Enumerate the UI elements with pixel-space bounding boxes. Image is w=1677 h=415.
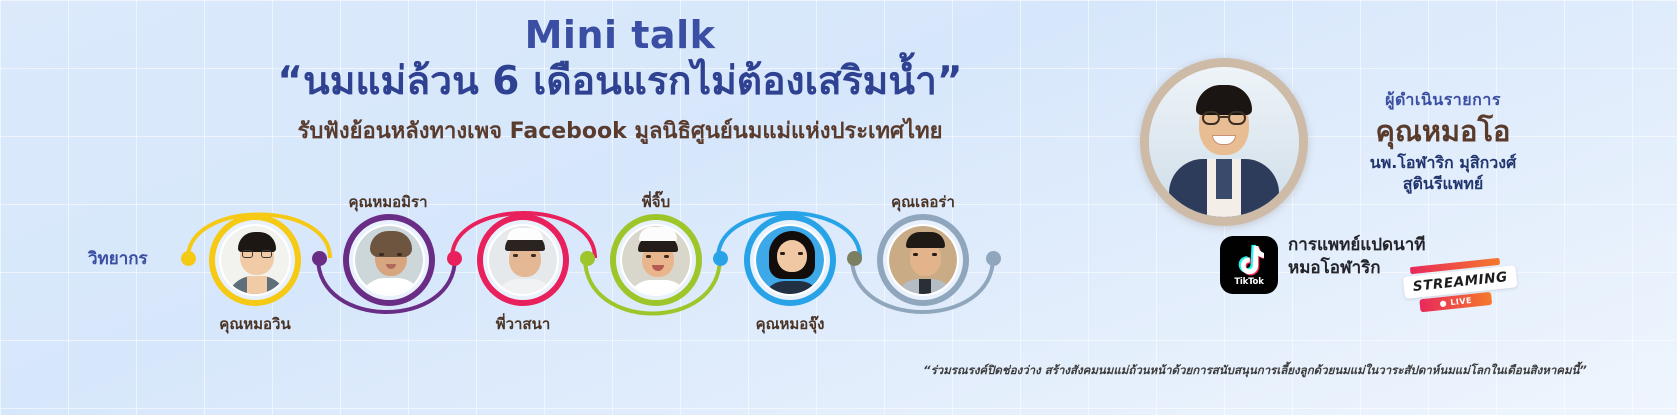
- footer-note: “ร่วมรณรงค์ปิดช่องว่าง สร้างสังคมนมแม่ถ้…: [840, 362, 1670, 380]
- channel-name-line1: การแพทย์แปดนาที: [1288, 234, 1425, 257]
- speaker-4-ring: [744, 214, 836, 306]
- speaker-4-photo: [754, 224, 826, 296]
- page-title: Mini talk: [180, 16, 1060, 56]
- speaker-5-photo: [887, 224, 959, 296]
- host-specialty: สูตินรีแพทย์: [1318, 174, 1568, 195]
- host-role-label: ผู้ดำเนินรายการ: [1318, 88, 1568, 113]
- timeline-dot-4: [713, 251, 728, 266]
- speaker-2-ring: [477, 214, 569, 306]
- speaker-2-name: พี่วาสนา: [453, 312, 593, 336]
- tiktok-note-icon: [1234, 244, 1264, 276]
- host-full-name: นพ.โอฬาริก มุสิกวงศ์: [1318, 153, 1568, 174]
- page-subtitle: รับฟังย้อนหลังทางเพจ Facebook มูลนิธิศูน…: [180, 119, 1060, 145]
- speaker-1-ring: [343, 214, 435, 306]
- speaker-4-name: คุณหมอจุ๊ง: [720, 312, 860, 336]
- tiktok-icon[interactable]: TikTok: [1220, 236, 1278, 294]
- timeline-dot-0: [181, 251, 196, 266]
- host-name: คุณหมอโอ: [1318, 116, 1568, 148]
- speaker-0-name: คุณหมอวิน: [185, 312, 325, 336]
- speaker-3-name: พี่จิ๊บ: [586, 190, 726, 214]
- page-title-quote: “นมแม่ล้วน 6 เดือนแรกไม่ต้องเสริมน้ำ”: [180, 58, 1060, 107]
- headline-block: Mini talk “นมแม่ล้วน 6 เดือนแรกไม่ต้องเส…: [180, 16, 1060, 145]
- speaker-0-photo: [219, 224, 291, 296]
- speaker-0-ring: [209, 214, 301, 306]
- host-info: ผู้ดำเนินรายการ คุณหมอโอ นพ.โอฬาริก มุสิ…: [1318, 88, 1568, 194]
- host-photo-image: [1149, 67, 1299, 217]
- speaker-1-name: คุณหมอมิรา: [318, 190, 458, 214]
- speaker-5-name: คุณเลอร่า: [853, 190, 993, 214]
- timeline-dot-2: [447, 251, 462, 266]
- speaker-1-photo: [353, 224, 425, 296]
- tiktok-wordmark: TikTok: [1234, 277, 1263, 287]
- timeline-dot-6: [986, 251, 1001, 266]
- speaker-3-photo: [620, 224, 692, 296]
- timeline-dot-5: [847, 251, 862, 266]
- timeline-dot-3: [580, 251, 595, 266]
- speaker-5-ring: [877, 214, 969, 306]
- mini-talk-banner: Mini talk “นมแม่ล้วน 6 เดือนแรกไม่ต้องเส…: [0, 0, 1677, 415]
- speaker-2-photo: [487, 224, 559, 296]
- speaker-3-ring: [610, 214, 702, 306]
- host-avatar[interactable]: [1140, 58, 1308, 226]
- timeline-dot-1: [312, 251, 327, 266]
